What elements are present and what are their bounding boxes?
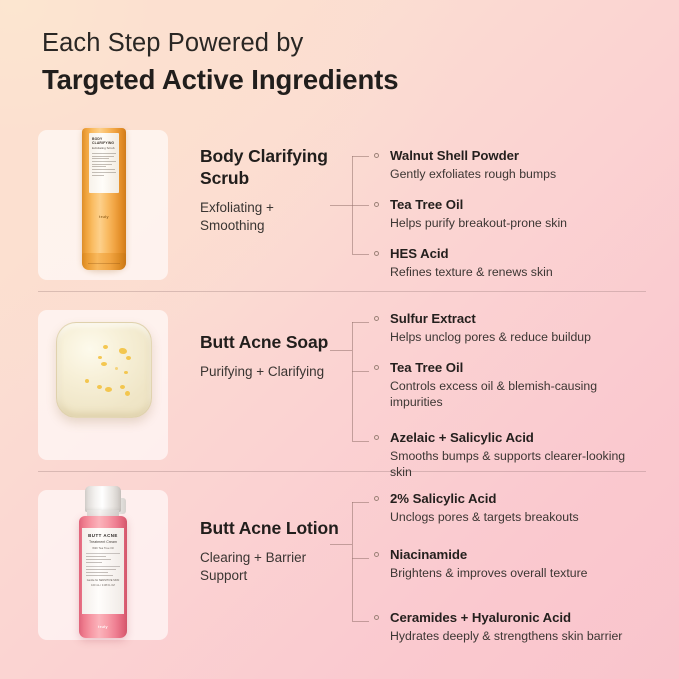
bracket-connector <box>330 150 372 260</box>
ingredient-description: Unclogs pores & targets breakouts <box>390 510 650 526</box>
ingredient-name: Ceramides + Hyaluronic Acid <box>390 610 650 627</box>
bottle-label-text-line <box>86 559 111 560</box>
bottle-label-subtitle: Treatment Cream <box>86 540 120 544</box>
ingredient-name: 2% Salicylic Acid <box>390 491 650 508</box>
tube-seam <box>88 263 120 264</box>
bullet-circle-icon <box>374 552 379 557</box>
soap-fleck <box>101 362 107 366</box>
bracket-stem <box>330 205 352 206</box>
bottle-label: BUTT ACNE Treatment Cream With Tea Tree … <box>82 528 124 614</box>
bullet-circle-icon <box>374 153 379 158</box>
bracket-stub <box>352 558 369 559</box>
soap-fleck <box>98 356 102 359</box>
bracket-spine <box>352 322 353 441</box>
ingredient-description: Hydrates deeply & strengthens skin barri… <box>390 629 650 645</box>
product-section-butt-acne-lotion: BUTT ACNE Treatment Cream With Tea Tree … <box>0 482 679 652</box>
bottle-label-size: 100 mL / 3.38 FL OZ <box>86 584 120 587</box>
bracket-connector <box>330 316 372 446</box>
page-header: Each Step Powered by Targeted Active Ing… <box>42 28 602 97</box>
ingredient-description: Helps unclog pores & reduce buildup <box>390 330 650 346</box>
bullet-circle-icon <box>374 496 379 501</box>
ingredient-description: Brightens & improves overall texture <box>390 566 650 582</box>
bottle-label-text-line <box>86 562 102 563</box>
bottle-label-title: BUTT ACNE <box>86 533 120 538</box>
product-text-block: Body Clarifying Scrub Exfoliating + Smoo… <box>200 146 330 234</box>
ingredient-item: Walnut Shell Powder Gently exfoliates ro… <box>372 148 650 183</box>
bracket-stub <box>352 322 369 323</box>
product-tagline: Clearing + Barrier Support <box>200 549 350 585</box>
ingredient-item: Sulfur Extract Helps unclog pores & redu… <box>372 311 650 346</box>
product-text-block: Butt Acne Lotion Clearing + Barrier Supp… <box>200 518 350 585</box>
bullet-circle-icon <box>374 365 379 370</box>
bullet-circle-icon <box>374 435 379 440</box>
headline-line-1: Each Step Powered by <box>42 28 602 59</box>
bottle-label-subtitle-2: With Tea Tree Oil <box>86 546 120 550</box>
bracket-stem <box>330 544 352 545</box>
bottle-label-rule <box>86 566 120 567</box>
ingredient-name: Tea Tree Oil <box>390 197 650 214</box>
ingredient-description: Controls excess oil & blemish-causing im… <box>390 379 650 411</box>
bracket-connector <box>330 496 372 626</box>
bottle-label-badge: Gentle for SENSITIVE SKIN <box>86 579 120 582</box>
headline-line-2: Targeted Active Ingredients <box>42 63 602 97</box>
soap-fleck <box>97 385 102 389</box>
soap-fleck <box>125 391 130 396</box>
bottle-label-text-line <box>86 572 108 573</box>
product-image-scrub-tube: BODY CLARIFYING Exfoliating Scrub truly <box>38 122 168 288</box>
tube-label: BODY CLARIFYING Exfoliating Scrub <box>89 133 119 193</box>
bracket-stub <box>352 621 369 622</box>
tube-label-rule <box>92 161 116 162</box>
product-section-butt-acne-soap: Butt Acne Soap Purifying + Clarifying Su… <box>0 302 679 472</box>
soap-fleck <box>103 345 108 349</box>
ingredient-item: Azelaic + Salicylic Acid Smooths bumps &… <box>372 430 650 481</box>
product-name: Butt Acne Lotion <box>200 518 350 540</box>
tube-label-text-line <box>92 158 109 159</box>
ingredient-item: Ceramides + Hyaluronic Acid Hydrates dee… <box>372 610 650 645</box>
ingredient-description: Helps purify breakout-prone skin <box>390 216 650 232</box>
ingredient-description: Gently exfoliates rough bumps <box>390 167 650 183</box>
pump-bottle-illustration: BUTT ACNE Treatment Cream With Tea Tree … <box>74 486 132 638</box>
tube-label-title: BODY CLARIFYING <box>92 137 116 146</box>
product-text-block: Butt Acne Soap Purifying + Clarifying <box>200 332 330 381</box>
bottle-label-text-line <box>86 556 106 557</box>
product-tagline: Purifying + Clarifying <box>200 363 330 381</box>
soap-fleck <box>119 348 127 354</box>
bracket-stub <box>352 156 369 157</box>
bracket-spine <box>352 502 353 621</box>
soap-fleck <box>124 371 128 374</box>
bracket-stem <box>330 350 352 351</box>
tube-label-text-line <box>92 169 115 170</box>
pump-cap <box>85 486 121 512</box>
tube-label-text-line <box>92 175 104 176</box>
bracket-stub <box>352 205 369 206</box>
ingredient-name: Walnut Shell Powder <box>390 148 650 165</box>
tube-brand-mark: truly <box>82 214 126 219</box>
bullet-circle-icon <box>374 615 379 620</box>
bracket-stub <box>352 502 369 503</box>
tube-illustration: BODY CLARIFYING Exfoliating Scrub truly <box>82 128 126 270</box>
ingredient-item: Niacinamide Brightens & improves overall… <box>372 547 650 582</box>
tube-label-rule <box>92 153 116 154</box>
product-name: Butt Acne Soap <box>200 332 330 354</box>
bullet-circle-icon <box>374 251 379 256</box>
tube-cap <box>82 253 126 270</box>
ingredient-description: Smooths bumps & supports clearer-looking… <box>390 449 650 481</box>
ingredient-name: Tea Tree Oil <box>390 360 650 377</box>
soap-fleck <box>85 379 89 383</box>
bottle-brand-mark: truly <box>74 624 132 629</box>
soap-fleck <box>126 356 131 360</box>
tube-label-rule <box>92 172 116 173</box>
bracket-stub <box>352 441 369 442</box>
ingredient-item: Tea Tree Oil Helps purify breakout-prone… <box>372 197 650 232</box>
ingredient-description: Refines texture & renews skin <box>390 265 650 281</box>
bottle-label-rule <box>86 553 120 554</box>
ingredient-name: HES Acid <box>390 246 650 263</box>
tube-label-text-line <box>92 156 114 157</box>
infographic-page: Each Step Powered by Targeted Active Ing… <box>0 0 679 679</box>
product-image-lotion-bottle: BUTT ACNE Treatment Cream With Tea Tree … <box>38 482 168 648</box>
ingredient-name: Sulfur Extract <box>390 311 650 328</box>
ingredient-name: Azelaic + Salicylic Acid <box>390 430 650 447</box>
product-section-body-clarifying-scrub: BODY CLARIFYING Exfoliating Scrub truly <box>0 122 679 292</box>
soap-fleck <box>120 385 125 389</box>
ingredient-item: HES Acid Refines texture & renews skin <box>372 246 650 281</box>
bracket-stub <box>352 371 369 372</box>
bullet-circle-icon <box>374 316 379 321</box>
bracket-stub <box>352 254 369 255</box>
ingredient-item: 2% Salicylic Acid Unclogs pores & target… <box>372 491 650 526</box>
ingredient-item: Tea Tree Oil Controls excess oil & blemi… <box>372 360 650 411</box>
soap-fleck <box>115 367 118 370</box>
bottle-label-text-line <box>86 569 116 570</box>
product-tagline: Exfoliating + Smoothing <box>200 199 330 235</box>
tube-label-text-line <box>92 164 112 165</box>
ingredient-name: Niacinamide <box>390 547 650 564</box>
bottle-label-text-line <box>86 575 113 576</box>
soap-fleck <box>105 387 112 392</box>
product-image-soap-bar <box>38 302 168 468</box>
soap-bar-illustration <box>56 322 152 418</box>
tube-label-subtitle: Exfoliating Scrub <box>92 147 116 151</box>
product-name: Body Clarifying Scrub <box>200 146 330 190</box>
bullet-circle-icon <box>374 202 379 207</box>
tube-label-text-line <box>92 166 106 167</box>
